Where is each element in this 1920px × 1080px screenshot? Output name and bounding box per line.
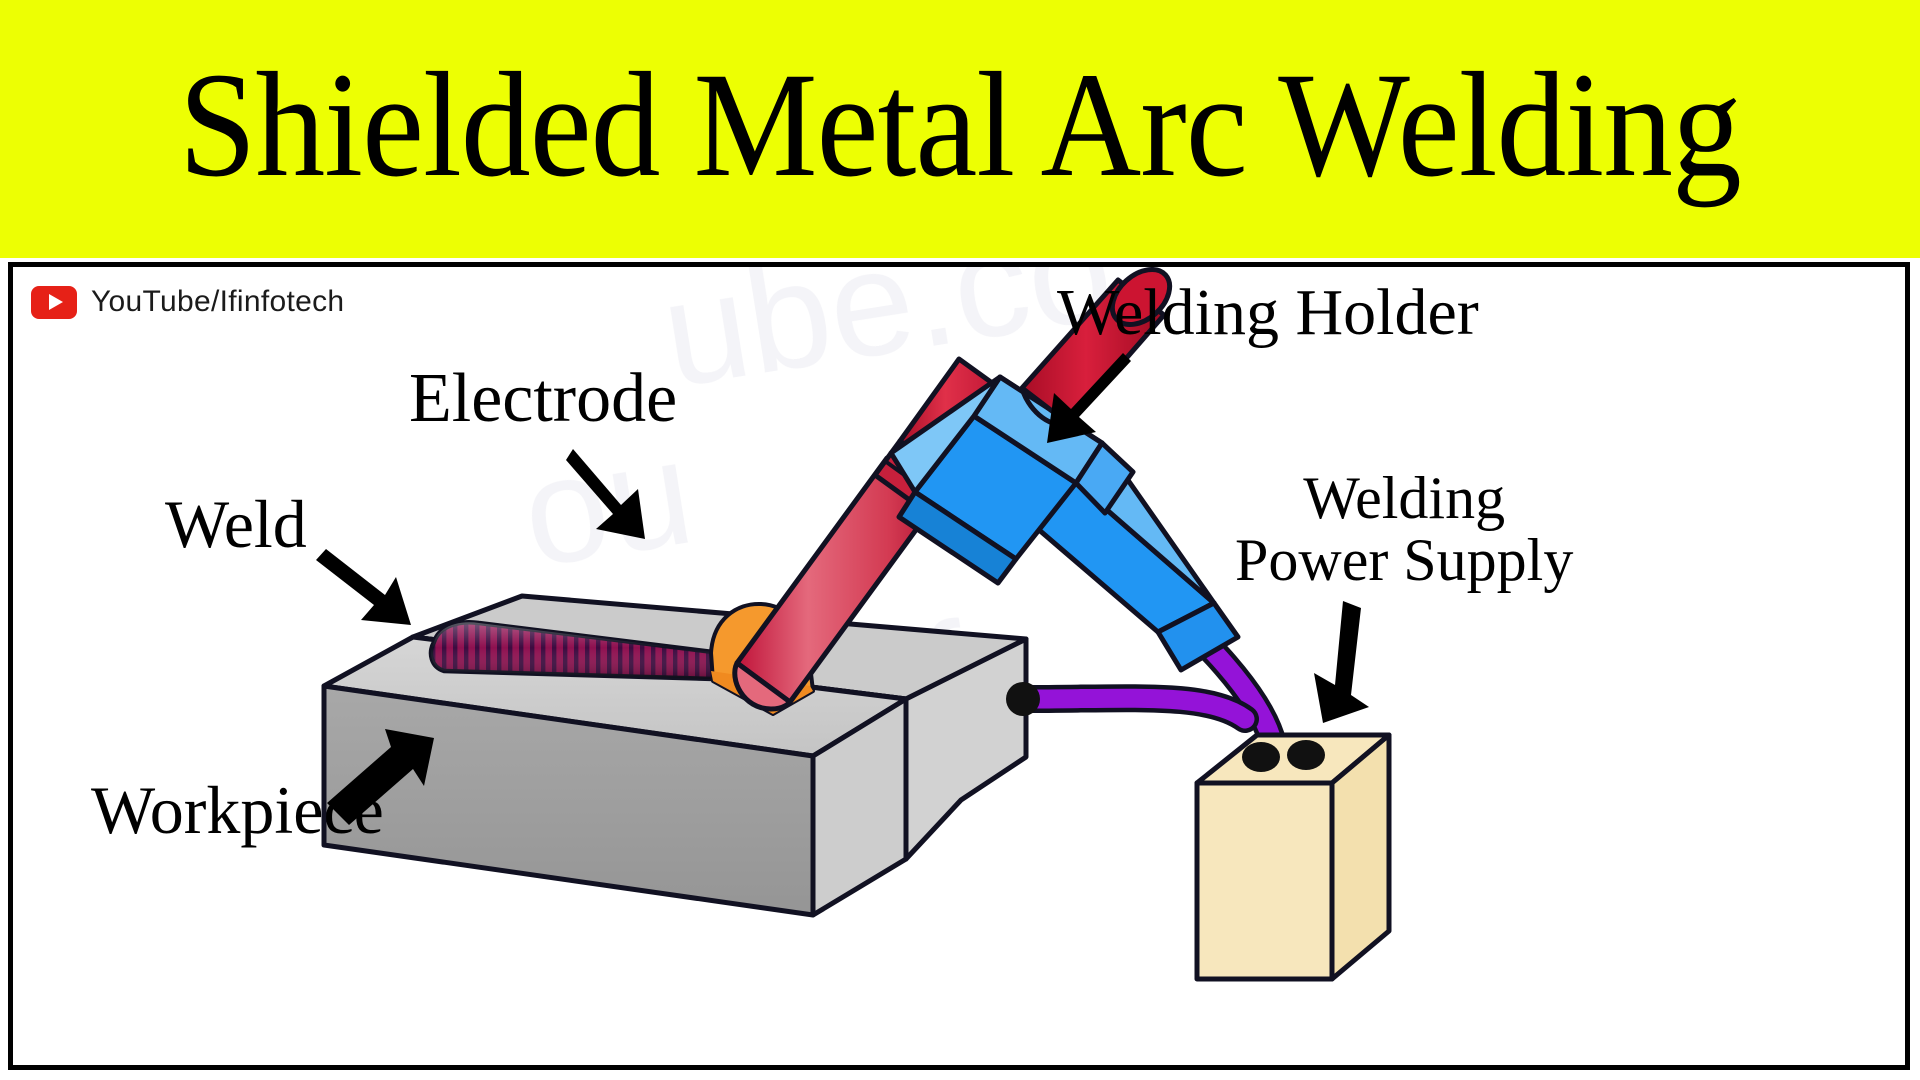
label-welding-power-supply: Welding Power Supply xyxy=(1235,467,1573,592)
workpiece-ground-terminal xyxy=(1006,682,1040,716)
arrow-weld xyxy=(316,549,411,625)
page-title: Shielded Metal Arc Welding xyxy=(179,50,1741,200)
title-banner: Shielded Metal Arc Welding xyxy=(0,0,1920,258)
label-workpiece: Workpiece xyxy=(91,775,384,846)
label-power-line-2: Power Supply xyxy=(1235,529,1573,591)
label-electrode: Electrode xyxy=(409,363,677,436)
page-root: Shielded Metal Arc Welding YouTube/Ifinf… xyxy=(0,0,1920,1080)
arrow-power-supply xyxy=(1314,601,1369,723)
power-supply xyxy=(1197,735,1389,979)
label-weld: Weld xyxy=(165,489,307,560)
welding-scene: ube.co ou If xyxy=(13,267,1905,1065)
youtube-channel-label: YouTube/Ifinfotech xyxy=(91,285,344,319)
diagram-frame: YouTube/Ifinfotech xyxy=(8,262,1910,1070)
power-supply-terminal-left xyxy=(1242,742,1280,772)
label-power-line-1: Welding xyxy=(1235,467,1573,529)
label-welding-holder: Welding Holder xyxy=(1057,279,1479,348)
power-supply-front-face xyxy=(1197,783,1332,979)
play-triangle-icon xyxy=(49,294,63,310)
power-supply-terminal-right xyxy=(1287,740,1325,770)
youtube-icon xyxy=(31,286,77,319)
youtube-watermark: YouTube/Ifinfotech xyxy=(31,285,344,319)
